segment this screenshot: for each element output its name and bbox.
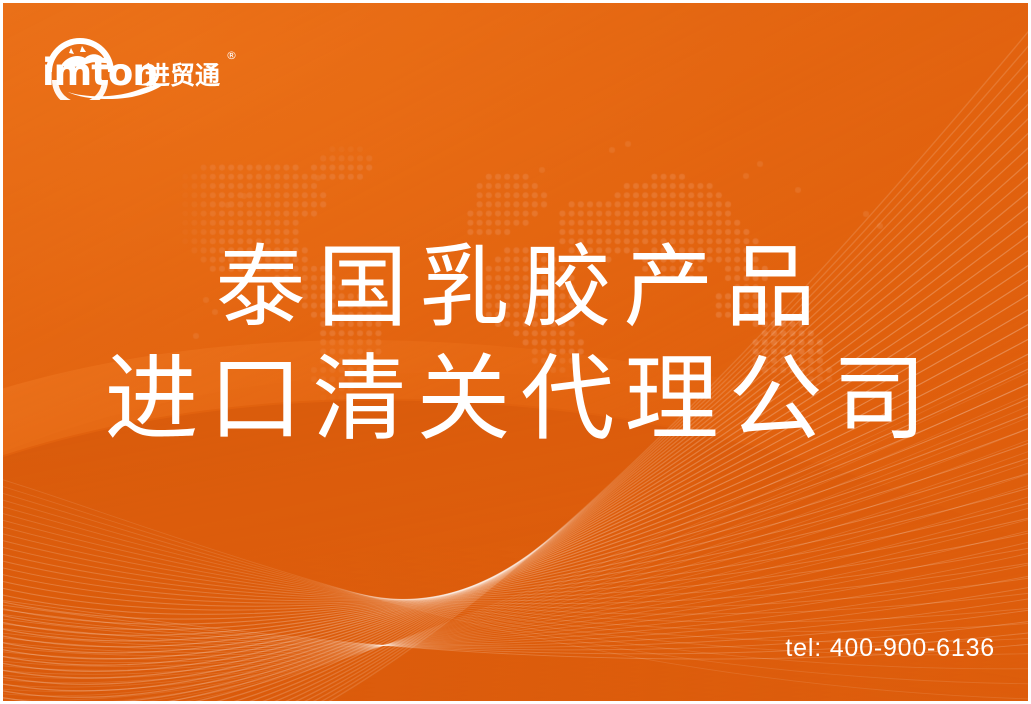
company-logo[interactable]: imton 进贸通 ® (38, 28, 243, 100)
logo-chinese-name: 进贸通 (145, 61, 220, 90)
logo-artwork: imton 进贸通 ® (38, 28, 243, 100)
logo-wordmark: imton (42, 51, 158, 94)
contact-phone[interactable]: tel: 400-900-6136 (785, 634, 995, 663)
promo-banner: imton 进贸通 ® 泰国乳胶产品 进口清关代理公司 tel: 400-900… (0, 0, 1031, 704)
headline-line-2: 进口清关代理公司 (0, 344, 1031, 456)
registered-trademark-icon: ® (226, 49, 237, 62)
headline-line-1: 泰国乳胶产品 (0, 232, 1031, 344)
headline: 泰国乳胶产品 进口清关代理公司 (0, 232, 1031, 456)
